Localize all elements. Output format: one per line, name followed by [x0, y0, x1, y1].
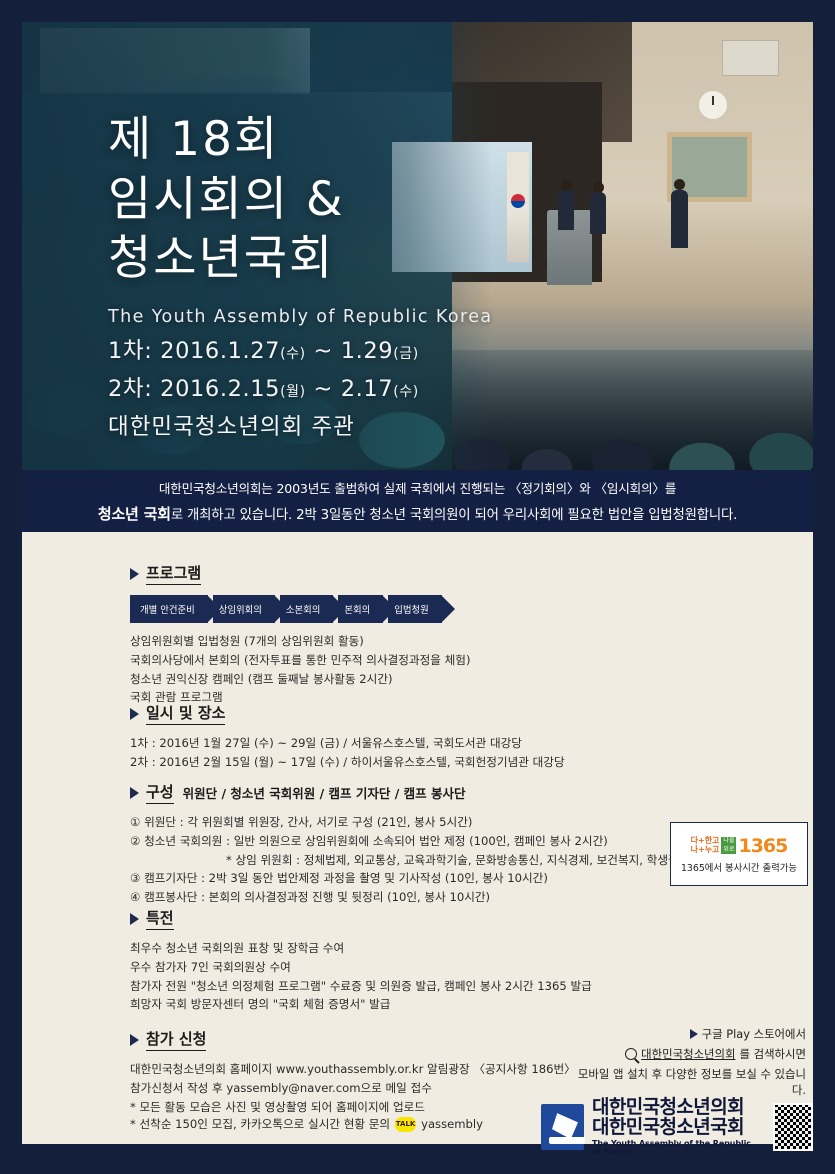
section-apply-title: 참가 신청	[130, 1028, 576, 1051]
flow-step-4: 본회의	[338, 595, 383, 623]
triangle-bullet-icon	[130, 913, 139, 925]
flow-step-2: 상임위회의	[213, 595, 275, 623]
session2-sep: ~	[313, 376, 332, 402]
benefits-line-3: 참가자 전원 "청소년 의정체험 프로그램" 수료증 및 의원증 발급, 캠페인…	[130, 977, 592, 996]
photo-projector	[722, 40, 779, 76]
session1-label: 1차:	[108, 338, 152, 364]
composition-line-3: * 상임 위원회 : 정체법제, 외교통상, 교육과학기술, 문화방송통신, 지…	[130, 851, 689, 870]
play-triangle-icon	[690, 1029, 698, 1039]
benefits-line-4: 희망자 국회 방문자센터 명의 "국회 체험 증명서" 발급	[130, 995, 592, 1014]
section-composition-label: 구성	[146, 781, 174, 804]
composition-lines: ① 위원단 : 각 위원회별 위원장, 간사, 서기로 구성 (21인, 봉사 …	[130, 813, 689, 907]
triangle-bullet-icon	[130, 787, 139, 799]
section-program-title: 프로그램	[130, 562, 470, 585]
playstore-block: 구글 Play 스토어에서 대한민국청소년의회 를 검색하시면 모바일 앱 설치…	[570, 1026, 806, 1098]
session2-start: 2016.2.15	[160, 376, 280, 402]
session1-start: 2016.1.27	[160, 338, 280, 364]
badge-1365-korean-mark: 다+한고 나+누고	[691, 837, 720, 854]
triangle-bullet-icon	[130, 708, 139, 720]
intro-banner-highlight: 청소년 국회	[98, 505, 171, 523]
photo-student-head-2	[593, 182, 604, 193]
benefits-lines: 최우수 청소년 국회의원 표창 및 장학금 수여 우수 참가자 7인 국회의원상…	[130, 939, 592, 1014]
session1-end: 1.29	[341, 338, 394, 364]
content-sheet: 프로그램 개별 안건준비 상임위회의 소본회의 본회의 입법청원 상임위원회별 …	[22, 532, 813, 1144]
composition-line-5: ④ 캠프봉사단 : 본회의 의사결정과정 진행 및 뒷정리 (10인, 봉사 1…	[130, 888, 689, 907]
benefits-line-1: 최우수 청소년 국회의원 표창 및 장학금 수여	[130, 939, 592, 958]
session2-end: 2.17	[341, 376, 394, 402]
hero-date-session-2: 2차: 2016.2.15(월) ~ 2.17(수)	[108, 371, 508, 403]
composition-line-4: ③ 캠프기자단 : 2박 3일 동안 법안제정 과정을 촬영 및 기사작성 (1…	[130, 869, 689, 888]
assembly-emblem-icon	[541, 1104, 584, 1150]
datetime-lines: 1차 : 2016년 1월 27일 (수) ~ 29일 (금) / 서울유스호스…	[130, 734, 565, 772]
apply-lines: 대한민국청소년의회 홈페이지 www.youthassembly.or.kr 알…	[130, 1060, 576, 1132]
flow-step-3: 소본회의	[280, 595, 334, 623]
section-program-label: 프로그램	[146, 562, 201, 585]
section-datetime-label: 일시 및 장소	[146, 702, 225, 725]
composition-line-2: ② 청소년 국회의원 : 일반 의원으로 상임위원회에 소속되어 법안 제정 (…	[130, 832, 689, 851]
section-benefits-label: 특전	[146, 907, 174, 930]
section-datetime-title: 일시 및 장소	[130, 702, 565, 725]
badge-1365-square-1: 나를	[721, 837, 736, 846]
photo-student-1	[558, 190, 574, 230]
photo-korean-flag	[507, 152, 529, 262]
apply-line-2: 참가신청서 작성 후 yassembly@naver.com으로 메일 접수	[130, 1079, 576, 1098]
hero-banner: 제 18회 임시회의 & 청소년국회 The Youth Assembly of…	[22, 22, 813, 470]
magnifier-icon	[625, 1048, 637, 1060]
intro-banner-line-2: 청소년 국회로 개최하고 있습니다. 2박 3일동안 청소년 국회의원이 되어 …	[98, 503, 737, 524]
kakao-id: yassembly	[421, 1117, 483, 1131]
badge-1365-green-squares: 나를 위로	[721, 837, 736, 854]
hero-english-subtitle: The Youth Assembly of Republic Korea	[108, 307, 508, 327]
datetime-line-2: 2차 : 2016년 2월 15일 (월) ~ 17일 (수) / 하이서울유스…	[130, 753, 565, 772]
kakao-talk-icon: TALK	[395, 1117, 416, 1132]
composition-line-1: ① 위원단 : 각 위원회별 위원장, 간사, 서기로 구성 (21인, 봉사 …	[130, 813, 689, 832]
playstore-search-term: 대한민국청소년의회	[641, 1046, 735, 1062]
program-line-1: 상임위원회별 입법청원 (7개의 상임위원회 활동)	[130, 632, 470, 651]
program-line-2: 국회의사당에서 본회의 (전자투표를 통한 민주적 의사결정과정을 체험)	[130, 651, 470, 670]
photo-student-head-3	[674, 179, 685, 190]
triangle-bullet-icon	[130, 1034, 139, 1046]
program-lines: 상임위원회별 입법청원 (7개의 상임위원회 활동) 국회의사당에서 본회의 (…	[130, 632, 470, 707]
photo-student-head-1	[561, 180, 572, 191]
footer-logo-en: The Youth Assembly of the Republic of Ko…	[592, 1140, 757, 1157]
playstore-line-2: 대한민국청소년의회 를 검색하시면	[570, 1046, 806, 1062]
footer-logo-text: 대한민국청소년의회 대한민국청소년국회 The Youth Assembly o…	[592, 1098, 757, 1156]
badge-1365-logo: 다+한고 나+누고 나를 위로 1365	[691, 835, 788, 857]
session2-start-day: (월)	[280, 384, 306, 400]
badge-1365-kr-bottom: 나+누고	[691, 846, 720, 854]
section-apply-label: 참가 신청	[146, 1028, 206, 1051]
badge-1365-caption: 1365에서 봉사시간 출력가능	[681, 860, 797, 874]
playstore-line-1: 구글 Play 스토어에서	[570, 1026, 806, 1042]
hero-date-session-1: 1차: 2016.1.27(수) ~ 1.29(금)	[108, 333, 508, 365]
section-composition-subtitle: 위원단 / 청소년 국회위원 / 캠프 기자단 / 캠프 봉사단	[183, 783, 466, 802]
triangle-bullet-icon	[130, 568, 139, 580]
footer-logo-kr-2: 대한민국청소년국회	[592, 1118, 757, 1138]
session2-label: 2차:	[108, 376, 152, 402]
session1-end-day: (금)	[393, 346, 419, 362]
program-line-3: 청소년 권익신장 캠페인 (캠프 둘째날 봉사활동 2시간)	[130, 670, 470, 689]
datetime-line-1: 1차 : 2016년 1월 27일 (수) ~ 29일 (금) / 서울유스호스…	[130, 734, 565, 753]
hero-title-line-3: 청소년국회	[108, 229, 508, 289]
intro-banner-rest: 로 개최하고 있습니다. 2박 3일동안 청소년 국회의원이 되어 우리사회에 …	[171, 508, 737, 523]
badge-1365-square-2: 위로	[721, 846, 736, 855]
intro-banner-line-1: 대한민국청소년의회는 2003년도 출범하여 실제 국회에서 진행되는 〈정기회…	[159, 478, 676, 497]
poster-root: 제 18회 임시회의 & 청소년국회 The Youth Assembly of…	[0, 0, 835, 1174]
section-composition: 구성 위원단 / 청소년 국회위원 / 캠프 기자단 / 캠프 봉사단 ① 위원…	[130, 781, 689, 907]
section-program: 프로그램 개별 안건준비 상임위회의 소본회의 본회의 입법청원 상임위원회별 …	[130, 562, 470, 707]
hero-text-block: 제 18회 임시회의 & 청소년국회 The Youth Assembly of…	[108, 110, 508, 441]
photo-student-3	[671, 190, 688, 248]
apply-line-3: * 모든 활동 모습은 사진 및 영상촬영 되어 홈페이지에 업로드	[130, 1098, 576, 1117]
apply-line-4-text: * 선착순 150인 모집, 카카오톡으로 실시간 현황 문의	[130, 1116, 390, 1132]
section-composition-title: 구성 위원단 / 청소년 국회위원 / 캠프 기자단 / 캠프 봉사단	[130, 781, 689, 804]
section-benefits: 특전 최우수 청소년 국회의원 표창 및 장학금 수여 우수 참가자 7인 국회…	[130, 907, 592, 1014]
playstore-line-2-rest: 를 검색하시면	[740, 1046, 807, 1062]
footer-logo-block: 대한민국청소년의회 대한민국청소년국회 The Youth Assembly o…	[541, 1098, 813, 1156]
hero-title-line-2: 임시회의 &	[108, 170, 508, 230]
program-flow-diagram: 개별 안건준비 상임위회의 소본회의 본회의 입법청원	[130, 595, 470, 623]
session1-start-day: (수)	[280, 346, 306, 362]
hero-host-line: 대한민국청소년의회 주관	[108, 409, 508, 441]
flow-step-5: 입법청원	[388, 595, 442, 623]
hero-title-line-1: 제 18회	[108, 110, 508, 170]
apply-line-1: 대한민국청소년의회 홈페이지 www.youthassembly.or.kr 알…	[130, 1060, 576, 1079]
section-apply: 참가 신청 대한민국청소년의회 홈페이지 www.youthassembly.o…	[130, 1028, 576, 1132]
session2-end-day: (수)	[393, 384, 419, 400]
playstore-line-1-text: 구글 Play 스토어에서	[702, 1026, 806, 1042]
playstore-line-3: 모바일 앱 설치 후 다양한 정보를 보실 수 있습니다.	[570, 1066, 806, 1098]
badge-1365-number: 1365	[738, 835, 787, 857]
photo-student-2	[590, 192, 606, 234]
badge-1365: 다+한고 나+누고 나를 위로 1365 1365에서 봉사시간 출력가능	[670, 822, 808, 886]
session1-sep: ~	[313, 338, 332, 364]
intro-banner: 대한민국청소년의회는 2003년도 출범하여 실제 국회에서 진행되는 〈정기회…	[22, 470, 813, 532]
section-datetime: 일시 및 장소 1차 : 2016년 1월 27일 (수) ~ 29일 (금) …	[130, 702, 565, 772]
apply-line-4: * 선착순 150인 모집, 카카오톡으로 실시간 현황 문의 TALK yas…	[130, 1116, 576, 1132]
photo-wall-clock	[697, 89, 729, 121]
flow-step-1: 개별 안건준비	[130, 595, 208, 623]
section-benefits-title: 특전	[130, 907, 592, 930]
benefits-line-2: 우수 참가자 7인 국회의원상 수여	[130, 958, 592, 977]
qr-code-icon	[773, 1103, 813, 1151]
footer-logo-kr-1: 대한민국청소년의회	[592, 1098, 757, 1118]
